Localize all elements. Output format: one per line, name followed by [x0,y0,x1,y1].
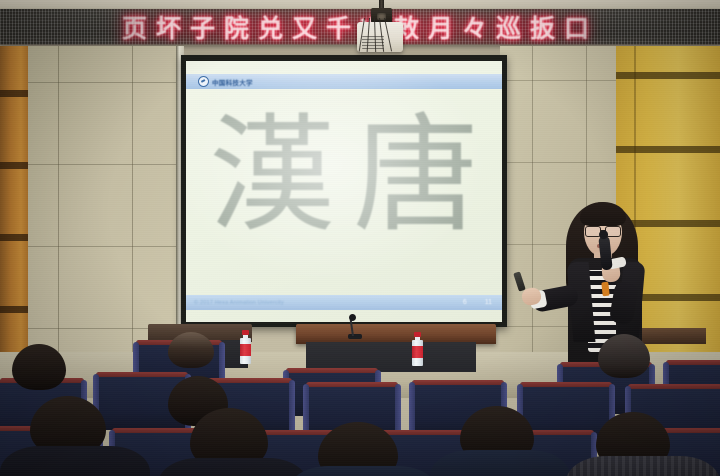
slide-page-total: 11 [485,299,492,306]
audience-member-shoulders [566,456,720,476]
audience-area [0,330,720,476]
presenter-fringe [580,202,626,226]
left-wood-slat-wall [0,46,30,366]
audience-member-head [12,344,66,390]
lecture-hall-photo: 页坏子院兑又千刈敕月々巡扳口 [0,0,720,476]
left-acoustic-panel-wall [28,46,178,366]
slide-page-current: 6 [463,299,467,306]
slide-copyright-text: © 2017 Hexa Animation Univercity [194,300,284,306]
slide-logo-label: 中国科技大学 [212,77,253,87]
audience-member-head [168,332,214,368]
audience-member-shoulders [0,446,150,476]
audience-member-head [598,334,650,378]
slide-page-indicator: 6 11 [463,299,492,306]
audience-member-shoulders [158,458,308,476]
desk-microphone-icon [349,314,356,321]
slide-header-bar: 中国科技大学 [186,74,502,89]
slide-calligraphy-text: 漢唐 [186,113,502,239]
audience-member-shoulders [430,450,570,476]
projection-screen: 中国科技大学 漢唐 © 2017 Hexa Animation Univerci… [186,61,502,322]
projection-screen-frame: 中国科技大学 漢唐 © 2017 Hexa Animation Univerci… [181,55,507,327]
microphone-band [601,282,609,297]
slide-footer-bar: © 2017 Hexa Animation Univercity 6 11 [186,295,502,310]
projector-cables [362,18,392,54]
university-seal-icon [198,76,209,87]
